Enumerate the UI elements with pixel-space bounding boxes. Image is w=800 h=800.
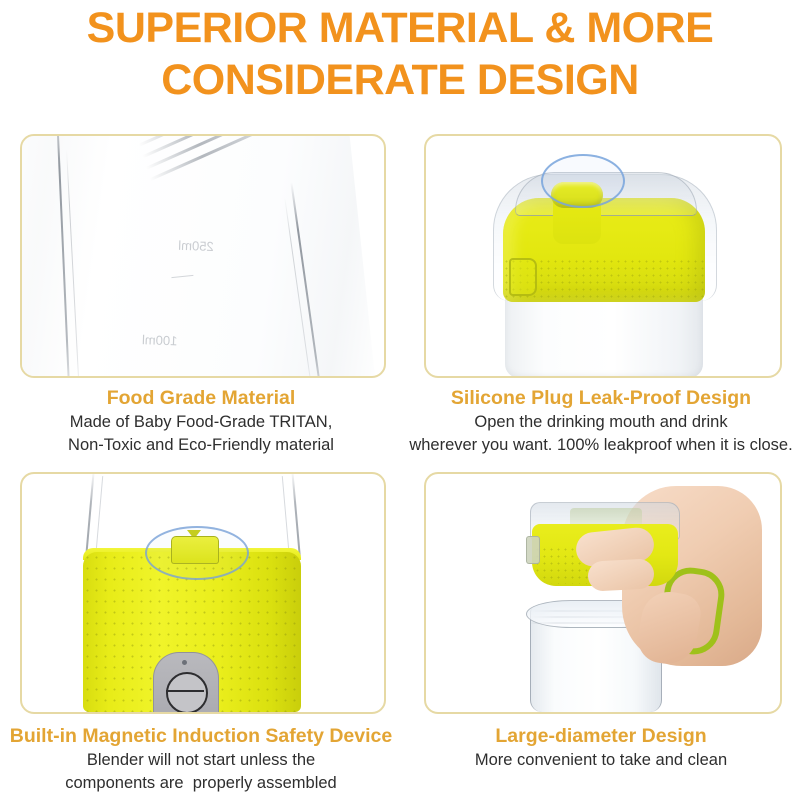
power-button-divider <box>166 690 204 692</box>
volume-tick-mid <box>171 275 193 278</box>
lid-latch-tab <box>526 536 540 564</box>
caption-body-line-1: More convenient to take and clean <box>402 749 800 772</box>
jar-wall-right-inner <box>282 476 289 550</box>
product-photo-hand-and-jar <box>426 474 780 712</box>
bottle-edge-right-inner <box>284 197 313 376</box>
feature-panel-food-grade-material: 250ml 100ml <box>20 134 386 378</box>
product-photo-silicone-plug-lid <box>426 136 780 376</box>
feature-panel-silicone-plug <box>424 134 782 378</box>
page-title-line-2: CONSIDERATE DESIGN <box>0 54 800 106</box>
cap-latch-tab <box>509 258 537 296</box>
silicone-plug-neck <box>553 202 601 244</box>
jar-wall-left <box>85 474 94 556</box>
caption-body-line-1: Open the drinking mouth and drink <box>402 411 800 434</box>
caption-heading: Built-in Magnetic Induction Safety Devic… <box>2 723 400 749</box>
caption-heading: Large-diameter Design <box>402 723 800 749</box>
caption-heading: Food Grade Material <box>14 385 388 411</box>
feature-panel-large-diameter <box>424 472 782 714</box>
finger <box>587 558 654 591</box>
caption-body-line-2: wherever you want. 100% leakproof when i… <box>402 434 800 457</box>
product-photo-motor-base <box>22 474 384 712</box>
caption-body-line-2: Non-Toxic and Eco-Friendly material <box>14 434 388 457</box>
motor-base-illustration <box>53 474 353 712</box>
caption-heading: Silicone Plug Leak-Proof Design <box>402 385 800 411</box>
caption-body-line-2: components are properly assembled <box>2 772 400 795</box>
hand-lid-jar-illustration <box>426 474 780 712</box>
lid-assembly-illustration <box>453 136 753 376</box>
bottle-edge-left <box>55 136 70 376</box>
highlight-ellipse-icon <box>541 154 625 208</box>
bottle-body-illustration: 250ml 100ml <box>22 136 378 376</box>
highlight-ellipse-icon <box>145 526 249 580</box>
jar-wall-left-inner <box>96 476 103 550</box>
caption-food-grade-material: Food Grade Material Made of Baby Food-Gr… <box>14 385 388 456</box>
caption-body-line-1: Blender will not start unless the <box>2 749 400 772</box>
bottle-thread-group <box>130 136 377 232</box>
bottle-edge-left-inner <box>66 150 80 376</box>
power-button[interactable] <box>166 672 208 712</box>
volume-marking-250ml: 250ml <box>178 238 214 254</box>
page-title: SUPERIOR MATERIAL & MORE CONSIDERATE DES… <box>0 2 800 106</box>
caption-silicone-plug: Silicone Plug Leak-Proof Design Open the… <box>402 385 800 456</box>
caption-body-line-1: Made of Baby Food-Grade TRITAN, <box>14 411 388 434</box>
product-photo-tritan-bottle: 250ml 100ml <box>22 136 384 376</box>
feature-panel-magnetic-induction <box>20 472 386 714</box>
jar-wall-right <box>291 474 300 556</box>
status-led-icon <box>182 660 187 665</box>
caption-magnetic-induction: Built-in Magnetic Induction Safety Devic… <box>2 723 400 794</box>
caption-large-diameter: Large-diameter Design More convenient to… <box>402 723 800 772</box>
volume-marking-100ml: 100ml <box>142 332 178 348</box>
page-title-line-1: SUPERIOR MATERIAL & MORE <box>0 2 800 54</box>
